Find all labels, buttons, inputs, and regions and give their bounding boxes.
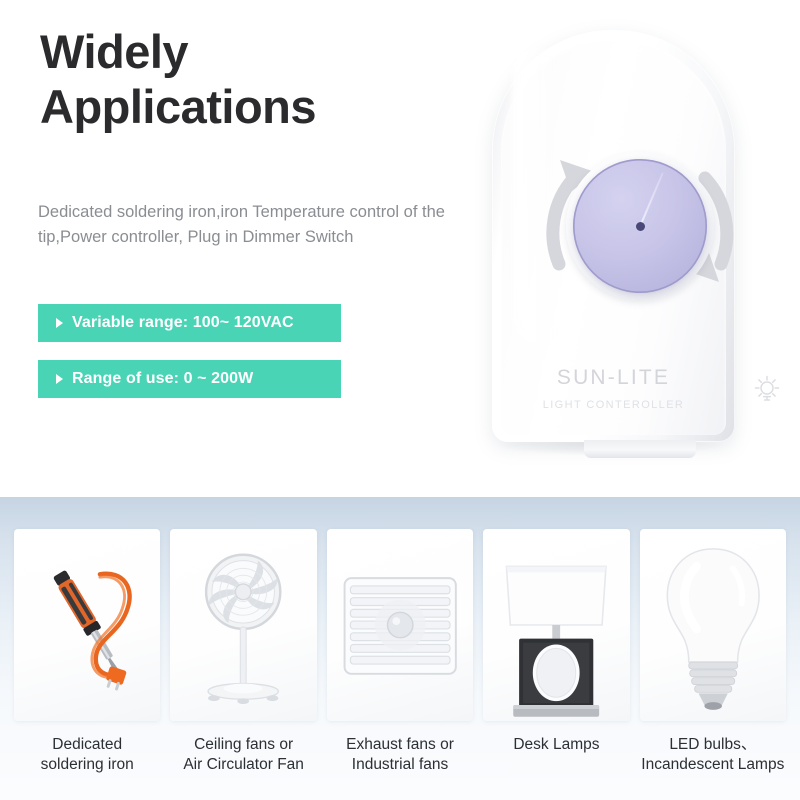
caption-line-2: Incandescent Lamps (640, 755, 786, 775)
spec-badge-variable-range: Variable range: 100~ 120VAC (38, 304, 341, 342)
dial-assembly (529, 116, 749, 336)
application-card[interactable] (14, 529, 160, 721)
pedestal-fan-icon (170, 529, 316, 721)
dial-pointer (639, 172, 664, 226)
application-caption: Dedicated soldering iron (14, 735, 160, 776)
soldering-iron-icon (14, 529, 160, 721)
caption-line-1: Ceiling fans or (170, 735, 316, 755)
application-caption: Exhaust fans or Industrial fans (327, 735, 473, 776)
product-device-image: SUN-LITE LIGHT CONTEROLLER (466, 22, 766, 462)
triangle-right-icon (56, 318, 63, 328)
caption-line-1: Exhaust fans or (327, 735, 473, 755)
caption-line-1: LED bulbs、 (640, 735, 786, 755)
triangle-right-icon (56, 374, 63, 384)
application-caption-list: Dedicated soldering iron Ceiling fans or… (14, 735, 786, 776)
dial-knob[interactable] (573, 159, 707, 293)
spec-badge-label: Range of use: 0 ~ 200W (72, 370, 253, 388)
spec-badge-range-of-use: Range of use: 0 ~ 200W (38, 360, 341, 398)
caption-line-2: Air Circulator Fan (170, 755, 316, 775)
application-card[interactable] (640, 529, 786, 721)
applications-strip: Dedicated soldering iron Ceiling fans or… (0, 497, 800, 800)
application-caption: LED bulbs、 Incandescent Lamps (640, 735, 786, 776)
spec-badge-list: Variable range: 100~ 120VAC Range of use… (38, 304, 343, 398)
headline-line-2: Applications (40, 79, 460, 134)
device-subtitle-label: LIGHT CONTEROLLER (492, 399, 735, 411)
device-base-tab (584, 440, 696, 458)
description-text: Dedicated soldering iron,iron Temperatur… (38, 200, 458, 250)
device-body: SUN-LITE LIGHT CONTEROLLER (492, 30, 735, 442)
caption-line-1: Desk Lamps (483, 735, 629, 755)
hero-section: Widely Applications Dedicated soldering … (0, 0, 800, 497)
device-brand-label: SUN-LITE (492, 366, 735, 390)
caption-line-2: Industrial fans (327, 755, 473, 775)
application-caption: Ceiling fans or Air Circulator Fan (170, 735, 316, 776)
application-card[interactable] (483, 529, 629, 721)
led-bulb-icon (640, 529, 786, 721)
headline-line-1: Widely (40, 25, 188, 78)
application-card[interactable] (327, 529, 473, 721)
caption-line-1: Dedicated (14, 735, 160, 755)
desk-lamp-icon (483, 529, 629, 721)
application-caption: Desk Lamps (483, 735, 629, 776)
marketing-page: Widely Applications Dedicated soldering … (0, 0, 800, 800)
exhaust-fan-icon (327, 529, 473, 721)
dial-center-hub (636, 222, 645, 231)
page-title: Widely Applications (40, 24, 460, 135)
spec-badge-label: Variable range: 100~ 120VAC (72, 314, 294, 332)
application-card[interactable] (170, 529, 316, 721)
brightness-bulb-icon (751, 374, 783, 408)
caption-line-2: soldering iron (14, 755, 160, 775)
application-card-list (14, 529, 786, 721)
